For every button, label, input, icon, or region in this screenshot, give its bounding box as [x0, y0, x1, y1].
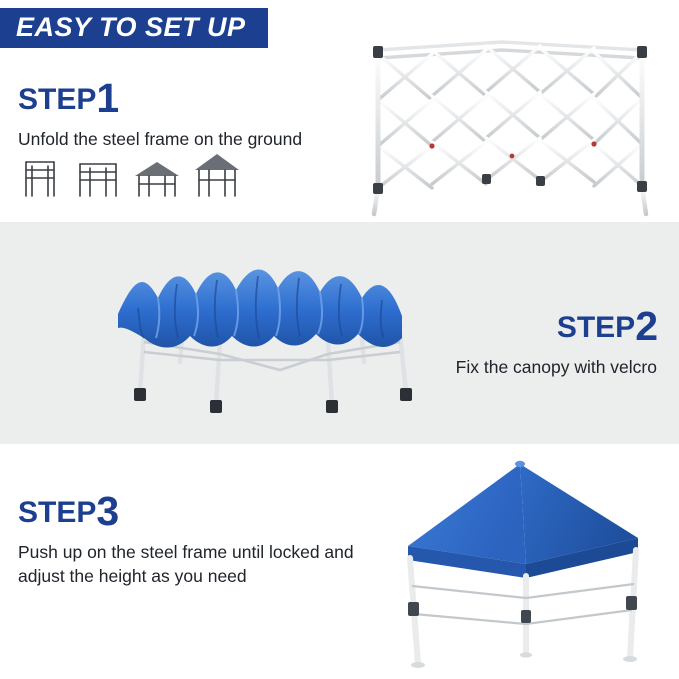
step-3-description: Push up on the steel frame until locked …: [18, 541, 378, 588]
step-2-heading: STEP2: [456, 306, 657, 347]
step-1-illustration: [352, 28, 670, 218]
step-2-illustration: [100, 242, 430, 437]
step-1-label: STEP: [18, 83, 96, 116]
frame-stage-3-canopy-low: [132, 154, 182, 200]
step-2-panel: STEP2 Fix the canopy with velcro: [0, 222, 679, 444]
step-1-text-block: STEP1 Unfold the steel frame on the grou…: [18, 78, 302, 152]
step-2-label: STEP: [557, 311, 635, 344]
step-3-panel: STEP3 Push up on the steel frame until l…: [0, 444, 679, 679]
step-3-label: STEP: [18, 496, 96, 529]
step-1-heading: STEP1: [18, 78, 302, 119]
folded-steel-frame-expanded-svg: [352, 28, 670, 218]
mini-frame-sequence: [18, 148, 233, 200]
step-2-description: Fix the canopy with velcro: [456, 356, 657, 380]
blue-canopy-draped-on-frame-svg: [100, 242, 430, 437]
frame-stage-2-partly-open: [74, 154, 122, 200]
step-3-number: 3: [96, 488, 118, 534]
step-3-illustration: [398, 458, 668, 674]
canopy-setup-instruction-graphic: EASY TO SET UP STEP1 Unfold the steel fr…: [0, 0, 679, 679]
step-3-heading: STEP3: [18, 491, 378, 532]
step-2-text-block: STEP2 Fix the canopy with velcro: [456, 306, 657, 380]
step-3-text-block: STEP3 Push up on the steel frame until l…: [18, 491, 378, 588]
frame-stage-1-collapsed: [18, 154, 62, 200]
step-1-number: 1: [96, 75, 118, 121]
step-2-number: 2: [635, 303, 657, 349]
assembled-blue-pop-up-canopy-svg: [398, 458, 668, 674]
easy-to-set-up-banner: EASY TO SET UP: [0, 8, 268, 48]
frame-stage-4-canopy-raised: [192, 150, 242, 200]
step-1-panel: EASY TO SET UP STEP1 Unfold the steel fr…: [0, 0, 679, 222]
